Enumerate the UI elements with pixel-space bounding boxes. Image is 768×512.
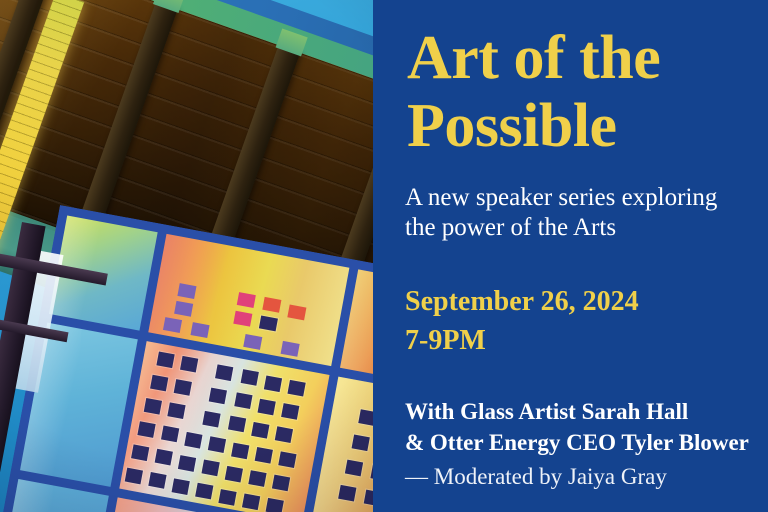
poster: Art of the Possible A new speaker series… — [0, 0, 768, 512]
glass-square — [174, 301, 193, 317]
page-title: Art of the Possible — [407, 24, 760, 160]
glass-square — [233, 311, 252, 327]
event-time: 7-9PM — [405, 321, 758, 360]
subtitle-line-1: A new speaker series exploring — [405, 183, 758, 213]
glass-square — [287, 305, 306, 321]
glass-square — [259, 316, 278, 332]
text-panel: Art of the Possible A new speaker series… — [373, 0, 768, 512]
speakers: With Glass Artist Sarah Hall & Otter Ene… — [405, 396, 762, 493]
glass-square — [177, 283, 196, 299]
event-date: September 26, 2024 — [405, 282, 758, 321]
glass-sheen — [148, 234, 251, 362]
moderator-credit: — Moderated by Jaiya Gray — [405, 458, 762, 493]
glass-square — [262, 297, 281, 313]
glass-pane — [119, 341, 329, 512]
glass-pane — [0, 479, 109, 512]
glass-square — [243, 334, 262, 350]
glass-square — [163, 317, 182, 333]
subtitle: A new speaker series exploring the power… — [405, 183, 758, 243]
glass-square-field — [119, 341, 329, 512]
speaker-line-1: With Glass Artist Sarah Hall — [405, 396, 762, 427]
glass-sheen — [0, 479, 54, 512]
glass-square — [237, 292, 256, 308]
title-line-2: Possible — [407, 92, 760, 160]
glass-square — [191, 322, 210, 338]
glass-square — [281, 341, 300, 357]
speaker-line-2: & Otter Energy CEO Tyler Blower — [405, 427, 762, 458]
subtitle-line-2: the power of the Arts — [405, 213, 758, 243]
event-details: September 26, 2024 7-9PM — [405, 282, 758, 360]
building-photograph — [0, 0, 373, 512]
title-line-1: Art of the — [407, 24, 760, 92]
